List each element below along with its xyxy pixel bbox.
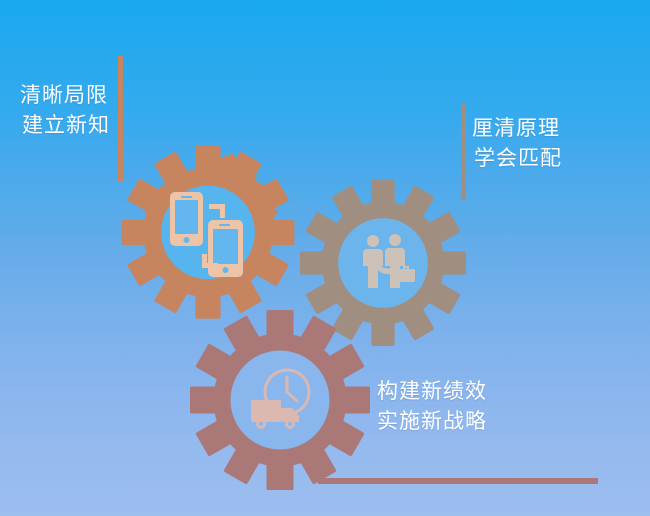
caption-top-left-line2: 建立新知 (20, 110, 110, 140)
gear-devices[interactable] (118, 146, 298, 326)
caption-top-left: 清晰局限 建立新知 (20, 80, 110, 140)
caption-top-right-line2: 学会匹配 (472, 143, 562, 173)
gear-logistics[interactable] (190, 310, 370, 490)
infographic-canvas: 清晰局限 建立新知 厘清原理 学会匹配 构建新绩效 实施新战略 (0, 0, 650, 516)
caption-top-right: 厘清原理 学会匹配 (472, 113, 562, 173)
caption-top-left-line1: 清晰局限 (20, 80, 110, 110)
caption-bottom-right: 构建新绩效 实施新战略 (377, 376, 487, 436)
caption-bottom-right-line1: 构建新绩效 (377, 376, 487, 406)
caption-top-right-line1: 厘清原理 (472, 113, 562, 143)
caption-bottom-right-line2: 实施新战略 (377, 406, 487, 436)
